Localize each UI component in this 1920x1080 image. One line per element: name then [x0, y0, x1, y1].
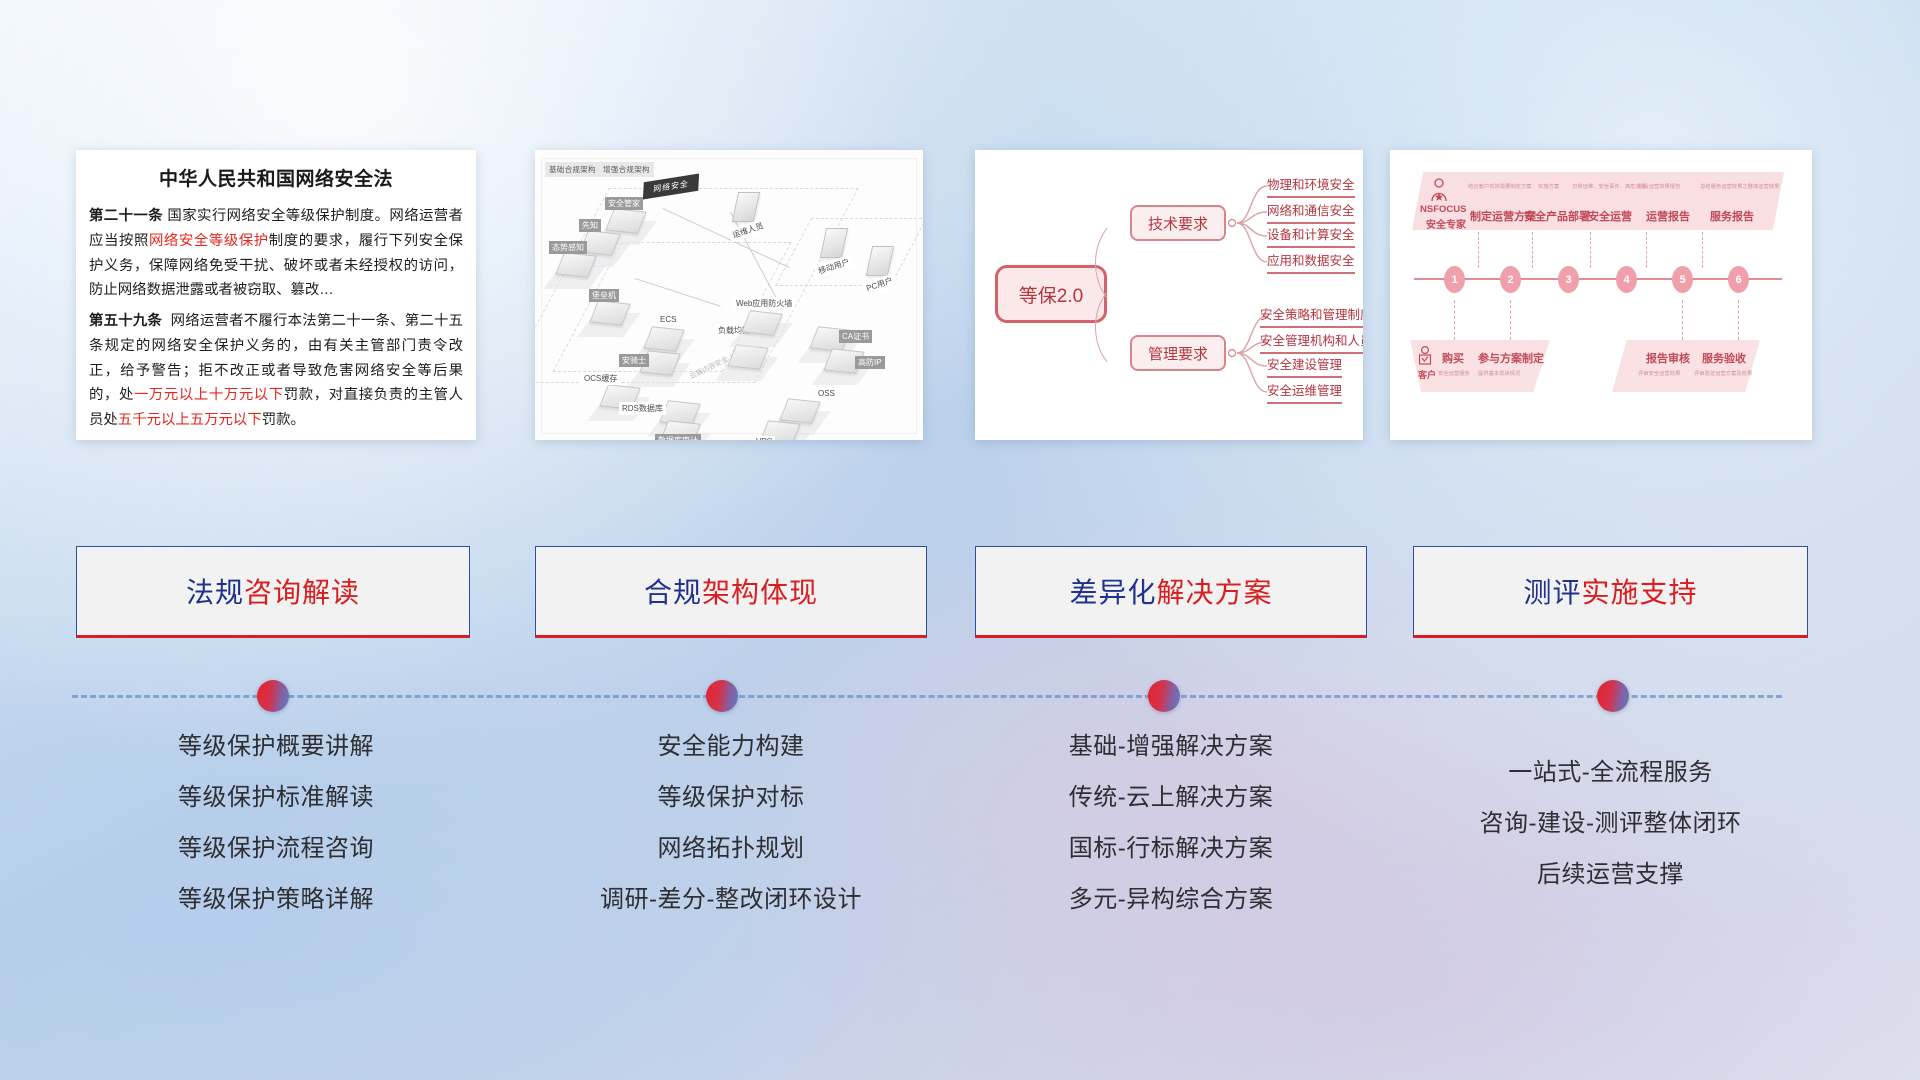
timeline-marker-4	[1597, 680, 1629, 712]
label-part-a: 测评	[1523, 571, 1581, 611]
list-item: 等级保护流程咨询	[76, 837, 476, 861]
node-server-icon	[866, 246, 894, 276]
node-oss: OSS	[783, 400, 817, 422]
timeline-tick	[1738, 300, 1739, 340]
list-item: 咨询-建设-测评整体闭环	[1413, 812, 1808, 836]
list-item: 基础-增强解决方案	[975, 735, 1367, 759]
top-step-sub: 总结服务运营效果之整体运营效果	[1700, 182, 1779, 190]
timeline-tick	[1510, 300, 1511, 340]
article-59-label: 第五十九条	[89, 313, 162, 329]
mindmap: 等保2.0 技术要求 管理要求 物理和环境安全 网络和通信安全 设备和计算安全 …	[975, 150, 1363, 440]
node-situational-awareness: 态势感知	[559, 254, 593, 276]
list-item: 国标-行标解决方案	[975, 837, 1367, 861]
list-item: 一站式-全流程服务	[1413, 761, 1808, 785]
node-ecs: ECS	[647, 328, 681, 350]
timeline-step-6: 6	[1728, 266, 1749, 293]
node-vpc: VPC	[763, 422, 797, 440]
node-server-icon	[732, 192, 760, 222]
node-label: VPC	[753, 436, 775, 440]
timeline-step-3: 3	[1558, 266, 1579, 293]
detail-column-architecture: 安全能力构建 等级保护对标 网络拓扑规划 调研-差分-整改闭环设计	[535, 735, 927, 939]
expert-role: 安全专家	[1426, 216, 1466, 231]
timeline-step-1: 1	[1444, 266, 1465, 293]
timeline-step-5: 5	[1672, 266, 1693, 293]
law-article-21: 第二十一条 国家实行网络安全等级保护制度。网络运营者应当按照网络安全等级保护制度…	[89, 204, 463, 303]
node-label: OCS缓存	[581, 372, 620, 385]
node-label: 先知	[579, 219, 601, 232]
expert-name: NSFOCUS	[1420, 204, 1466, 215]
customer-role: 客户	[1418, 368, 1436, 381]
node-label: ECS	[657, 314, 679, 325]
node-server-icon	[820, 228, 848, 258]
timeline-step-4: 4	[1616, 266, 1637, 293]
mindmap-leaf: 网络和通信安全	[1267, 200, 1355, 224]
top-step-sub: 结合客户实际需要制定方案	[1468, 182, 1532, 190]
mindmap-root: 等保2.0	[995, 265, 1107, 323]
card-cybersecurity-law: 中华人民共和国网络安全法 第二十一条 国家实行网络安全等级保护制度。网络运营者应…	[76, 150, 476, 440]
architecture-diagram: 基础合规架构 增强合规架构 网络安全 安全管家 先知 态势	[535, 150, 923, 440]
timeline-marker-1	[257, 680, 289, 712]
node-label: 堡垒机	[589, 289, 619, 302]
node-anti-ddos-ip: 高防IP	[827, 350, 861, 372]
bottom-step-caption: 报告审核	[1646, 350, 1690, 366]
card-nsfocus-service-timeline: NSFOCUS 安全专家 结合客户实际需要制定方案 制定运营方案 实施方案 安全…	[1390, 150, 1812, 440]
node-ca-certificate: CA证书	[813, 328, 847, 350]
label-row: 法规咨询解读 合规架构体现 差异化解决方案 测评实施支持	[0, 546, 1920, 638]
list-item: 安全能力构建	[535, 735, 927, 759]
node-xianzhi: 先知	[583, 232, 617, 254]
node-anqishi: 安骑士	[643, 352, 677, 374]
bottom-step-sub: 评审验证运营方案及效果	[1694, 369, 1752, 377]
timeline-strip	[0, 680, 1920, 720]
node-security-steward: 安全管家	[609, 210, 643, 232]
list-item: 网络拓扑规划	[535, 837, 927, 861]
label-part-a: 法规	[186, 571, 244, 611]
tab-enhanced-architecture: 增强合规架构	[599, 162, 654, 177]
top-step-sub: 实施方案	[1538, 182, 1559, 190]
mindmap-leaf: 物理和环境安全	[1267, 174, 1355, 198]
label-box-compliance-architecture[interactable]: 合规架构体现	[535, 546, 927, 638]
mindmap-leaf-connectors	[1235, 172, 1271, 422]
list-item: 等级保护对标	[535, 786, 927, 810]
timeline-tick	[1590, 232, 1591, 268]
timeline-tick	[1454, 300, 1455, 340]
node-label: RDS数据库	[619, 402, 666, 415]
node-waf: Web应用防火墙	[745, 312, 779, 334]
law-document: 中华人民共和国网络安全法 第二十一条 国家实行网络安全等级保护制度。网络运营者应…	[76, 150, 476, 440]
mindmap-branch-management: 管理要求	[1130, 335, 1226, 371]
label-box-differentiated-solution[interactable]: 差异化解决方案	[975, 546, 1367, 638]
list-item: 多元-异构综合方案	[975, 888, 1367, 912]
customer-band-right	[1612, 340, 1760, 392]
bottom-step-caption: 服务验收	[1702, 350, 1746, 366]
law-article-59: 第五十九条 网络运营者不履行本法第二十一条、第二十五条规定的网络安全保护义务的，…	[89, 309, 463, 433]
timeline-tick	[1682, 300, 1683, 340]
node-slb: 负载均衡SLB	[731, 346, 765, 368]
detail-column-regulation: 等级保护概要讲解 等级保护标准解读 等级保护流程咨询 等级保护策略详解	[76, 735, 476, 939]
bottom-step-sub: 评审安全运营效果	[1638, 369, 1680, 377]
node-label: 安骑士	[619, 354, 649, 367]
timeline-marker-3	[1148, 680, 1180, 712]
article-21-label: 第二十一条	[89, 208, 163, 224]
card-row: 中华人民共和国网络安全法 第二十一条 国家实行网络安全等级保护制度。网络运营者应…	[0, 150, 1920, 440]
article-21-highlight: 网络安全等级保护	[149, 233, 269, 249]
node-label: Web应用防火墙	[733, 297, 795, 310]
mindmap-branch-technical: 技术要求	[1130, 205, 1226, 241]
label-box-regulation-consulting[interactable]: 法规咨询解读	[76, 546, 470, 638]
node-mobile-user: 移动用户	[823, 228, 845, 258]
timeline-tick	[1478, 232, 1479, 268]
list-item: 等级保护概要讲解	[76, 735, 476, 759]
top-step-sub: 阶段运营效果报告	[1638, 182, 1680, 190]
top-step-caption: 安全产品部署	[1524, 208, 1590, 224]
node-database-audit: 数据库审计	[663, 422, 697, 440]
node-label: OSS	[815, 388, 838, 399]
customer-person-icon	[1416, 346, 1434, 366]
node-bastion-host: 堡垒机	[593, 302, 627, 324]
timeline-tick	[1702, 232, 1703, 268]
timeline-axis	[1414, 278, 1782, 280]
list-item: 传统-云上解决方案	[975, 786, 1367, 810]
mindmap-leaf: 安全建设管理	[1267, 354, 1342, 378]
bottom-step-caption: 参与方案制定	[1478, 350, 1544, 366]
list-item: 等级保护策略详解	[76, 888, 476, 912]
list-item: 后续运营支撑	[1413, 863, 1808, 887]
timeline-tick	[1646, 232, 1647, 268]
label-part-b: 架构体现	[702, 571, 818, 611]
nsfocus-timeline: NSFOCUS 安全专家 结合客户实际需要制定方案 制定运营方案 实施方案 安全…	[1390, 150, 1812, 440]
card-compliance-architecture: 基础合规架构 增强合规架构 网络安全 安全管家 先知 态势	[535, 150, 923, 440]
mindmap-leaf: 设备和计算安全	[1267, 224, 1355, 248]
node-label: 高防IP	[855, 356, 885, 369]
node-label: 态势感知	[549, 241, 587, 254]
node-label: 安全管家	[605, 197, 643, 210]
timeline-marker-2	[706, 680, 738, 712]
top-step-sub: 日常运维、安全事件、高危处置	[1572, 182, 1646, 190]
list-item: 调研-差分-整改闭环设计	[535, 888, 927, 912]
label-part-a: 差异化	[1069, 571, 1156, 611]
mindmap-leaf: 应用和数据安全	[1267, 250, 1355, 274]
node-pc-user: PC用户	[869, 246, 891, 276]
node-label: 数据库审计	[655, 434, 701, 440]
timeline-tick	[1532, 232, 1533, 268]
detail-column-solution: 基础-增强解决方案 传统-云上解决方案 国标-行标解决方案 多元-异构综合方案	[975, 735, 1367, 939]
bottom-step-caption: 购买	[1442, 350, 1464, 366]
bottom-step-sub: 提供基本现状情况	[1478, 369, 1520, 377]
label-part-b: 解决方案	[1157, 571, 1273, 611]
mindmap-leaf: 安全运维管理	[1267, 380, 1342, 404]
bottom-step-sub: 安全运营服务	[1438, 369, 1470, 377]
label-box-evaluation-support[interactable]: 测评实施支持	[1413, 546, 1808, 638]
timeline-dashed-line	[72, 695, 1782, 698]
top-step-caption: 安全运营	[1588, 208, 1632, 224]
label-part-b: 咨询解读	[244, 571, 360, 611]
mindmap-leaf: 安全策略和管理制度	[1260, 304, 1363, 328]
node-label: CA证书	[839, 330, 872, 343]
article-59-highlight-2: 五千元以上五万元以下	[118, 412, 262, 428]
label-part-a: 合规	[644, 571, 702, 611]
timeline-step-2: 2	[1500, 266, 1521, 293]
top-step-caption: 运营报告	[1646, 208, 1690, 224]
top-step-caption: 服务报告	[1710, 208, 1754, 224]
detail-column-evaluation: 一站式-全流程服务 咨询-建设-测评整体闭环 后续运营支撑	[1413, 761, 1808, 914]
node-ops-personnel: 运维人员	[735, 192, 757, 222]
label-part-b: 实施支持	[1582, 571, 1698, 611]
list-item: 等级保护标准解读	[76, 786, 476, 810]
mindmap-leaf: 安全管理机构和人员	[1260, 330, 1363, 354]
article-59-text-c: 罚款。	[262, 412, 305, 428]
tab-basic-architecture: 基础合规架构	[545, 162, 600, 177]
card-mindmap-dengbao: 等保2.0 技术要求 管理要求 物理和环境安全 网络和通信安全 设备和计算安全 …	[975, 150, 1363, 440]
expert-person-icon	[1428, 178, 1450, 202]
law-title: 中华人民共和国网络安全法	[89, 164, 463, 191]
article-59-highlight-1: 一万元以上十万元以下	[134, 387, 284, 403]
